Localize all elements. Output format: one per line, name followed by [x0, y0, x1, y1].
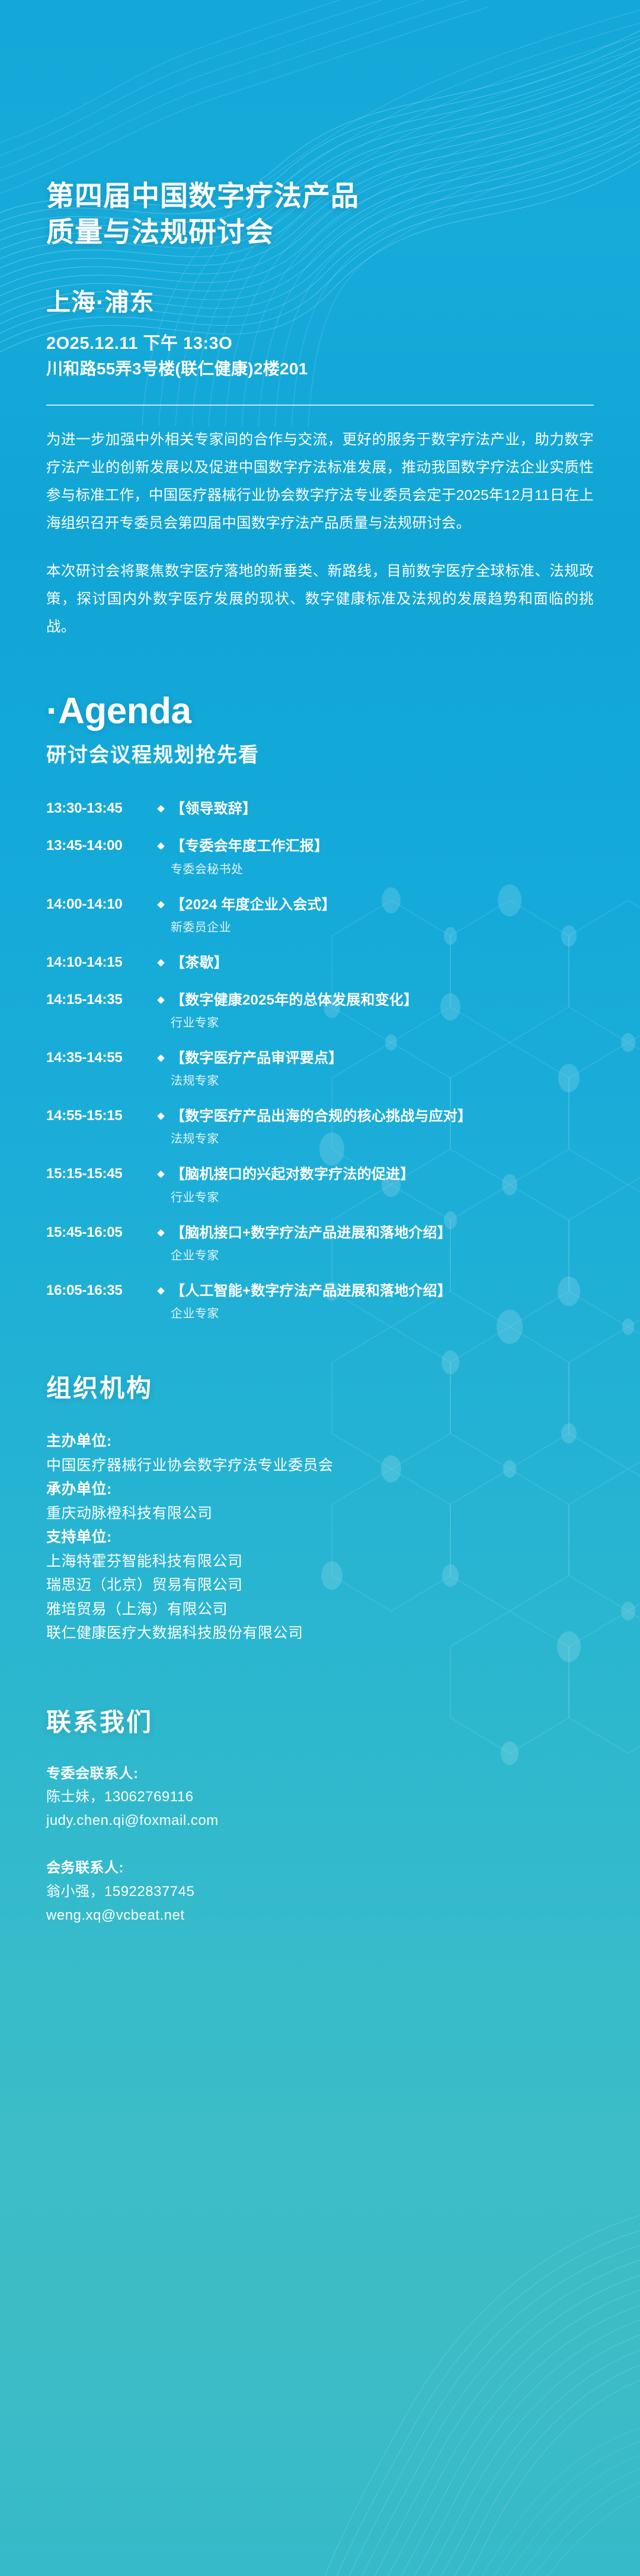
- host-value: 中国医疗器械行业协会数字疗法专业委员会: [46, 1454, 594, 1478]
- diamond-bullet-icon: [151, 1049, 171, 1061]
- agenda-item-speaker: 企业专家: [171, 1246, 594, 1263]
- contact-person-phone: 陈士妹，13062769116: [46, 1785, 594, 1809]
- agenda-item-body: 【脑机接口的兴起对数字疗法的促进】 行业专家: [171, 1165, 594, 1204]
- agenda-section: ·Agenda 研讨会议程规划抢先看 13:30-13:45 【领导致辞】 13…: [46, 692, 594, 1321]
- contact-heading: 联系我们: [46, 1702, 594, 1738]
- agenda-item-body: 【2024 年度企业入会式】 新委员企业: [171, 896, 594, 935]
- agenda-item-time: 14:15-14:35: [46, 991, 151, 1008]
- agenda-item-body: 【脑机接口+数字疗法产品进展和落地介绍】 企业专家: [171, 1224, 594, 1263]
- agenda-item-speaker: 行业专家: [171, 1013, 594, 1030]
- diamond-bullet-icon: [151, 1165, 171, 1177]
- event-venue: 川和路55弄3号楼(联仁健康)2楼201: [46, 357, 594, 382]
- support-value: 雅培贸易（上海）有限公司: [46, 1597, 594, 1622]
- page-title: 第四届中国数字疗法产品 质量与法规研讨会: [46, 178, 594, 250]
- agenda-item: 15:15-15:45 【脑机接口的兴起对数字疗法的促进】 行业专家: [46, 1165, 594, 1204]
- agenda-item-body: 【领导致辞】: [171, 800, 594, 818]
- agenda-item-body: 【茶歇】: [171, 954, 594, 972]
- agenda-item-title: 【专委会年度工作汇报】: [171, 837, 594, 855]
- agenda-item-time: 13:45-14:00: [46, 837, 151, 854]
- agenda-item-time: 13:30-13:45: [46, 800, 151, 817]
- agenda-item-title: 【茶歇】: [171, 954, 594, 972]
- contact-email[interactable]: judy.chen.qi@foxmail.com: [46, 1809, 594, 1833]
- agenda-item-title: 【2024 年度企业入会式】: [171, 896, 594, 914]
- agenda-item-title: 【数字健康2025年的总体发展和变化】: [171, 991, 594, 1009]
- conference-poster: 第四届中国数字疗法产品 质量与法规研讨会 上海·浦东 2O25.12.11 下午…: [0, 0, 640, 2576]
- organizations-heading: 组织机构: [46, 1368, 594, 1404]
- agenda-heading-en: ·Agenda: [46, 692, 594, 730]
- contact-email[interactable]: weng.xq@vcbeat.net: [46, 1904, 594, 1927]
- diamond-bullet-icon: [151, 954, 171, 965]
- diamond-bullet-icon: [151, 837, 171, 849]
- event-datetime: 2O25.12.11 下午 13:3O: [46, 331, 594, 357]
- agenda-item-time: 14:10-14:15: [46, 954, 151, 971]
- agenda-item-body: 【专委会年度工作汇报】 专委会秘书处: [171, 837, 594, 876]
- agenda-item-speaker: 企业专家: [171, 1304, 594, 1321]
- agenda-item-title: 【数字医疗产品出海的合规的核心挑战与应对】: [171, 1107, 594, 1125]
- agenda-item-title: 【人工智能+数字疗法产品进展和落地介绍】: [171, 1282, 594, 1300]
- agenda-heading-cn: 研讨会议程规划抢先看: [46, 739, 594, 768]
- agenda-item: 13:30-13:45 【领导致辞】: [46, 800, 594, 818]
- agenda-item-speaker: 新委员企业: [171, 918, 594, 935]
- agenda-item-body: 【数字医疗产品出海的合规的核心挑战与应对】 法规专家: [171, 1107, 594, 1146]
- hero-divider: [46, 405, 594, 406]
- agenda-item-speaker: 法规专家: [171, 1071, 594, 1088]
- agenda-item-body: 【数字医疗产品审评要点】 法规专家: [171, 1049, 594, 1088]
- diamond-bullet-icon: [151, 1282, 171, 1294]
- agenda-item: 14:10-14:15 【茶歇】: [46, 954, 594, 972]
- agenda-item: 16:05-16:35 【人工智能+数字疗法产品进展和落地介绍】 企业专家: [46, 1282, 594, 1321]
- agenda-item-time: 15:15-15:45: [46, 1165, 151, 1182]
- organizer-value: 重庆动脉橙科技有限公司: [46, 1502, 594, 1526]
- organizations-list: 主办单位: 中国医疗器械行业协会数字疗法专业委员会 承办单位: 重庆动脉橙科技有…: [46, 1429, 594, 1645]
- agenda-item-title: 【脑机接口的兴起对数字疗法的促进】: [171, 1165, 594, 1183]
- host-label: 主办单位:: [46, 1429, 594, 1454]
- agenda-item: 15:45-16:05 【脑机接口+数字疗法产品进展和落地介绍】 企业专家: [46, 1224, 594, 1263]
- contact-label: 专委会联系人:: [46, 1762, 594, 1786]
- agenda-item-time: 14:55-15:15: [46, 1107, 151, 1124]
- diamond-bullet-icon: [151, 1224, 171, 1236]
- support-value: 上海特霍芬智能科技有限公司: [46, 1550, 594, 1574]
- agenda-item-time: 16:05-16:35: [46, 1282, 151, 1299]
- support-label: 支持单位:: [46, 1525, 594, 1550]
- agenda-item: 13:45-14:00 【专委会年度工作汇报】 专委会秘书处: [46, 837, 594, 876]
- diamond-bullet-icon: [151, 800, 171, 811]
- agenda-item: 14:35-14:55 【数字医疗产品审评要点】 法规专家: [46, 1049, 594, 1088]
- agenda-item-title: 【脑机接口+数字疗法产品进展和落地介绍】: [171, 1224, 594, 1242]
- event-city: 上海·浦东: [46, 282, 594, 317]
- diamond-bullet-icon: [151, 1107, 171, 1119]
- agenda-item-time: 15:45-16:05: [46, 1224, 151, 1241]
- agenda-item-speaker: 法规专家: [171, 1129, 594, 1146]
- title-line-2: 质量与法规研讨会: [46, 216, 274, 248]
- organizer-label: 承办单位:: [46, 1477, 594, 1502]
- organizations-section: 组织机构 主办单位: 中国医疗器械行业协会数字疗法专业委员会 承办单位: 重庆动…: [46, 1368, 594, 1645]
- intro-paragraph-2: 本次研讨会将聚焦数字医疗落地的新垂类、新路线，目前数字医疗全球标准、法规政策，探…: [46, 557, 594, 641]
- agenda-item-body: 【数字健康2025年的总体发展和变化】 行业专家: [171, 991, 594, 1030]
- agenda-item: 14:15-14:35 【数字健康2025年的总体发展和变化】 行业专家: [46, 991, 594, 1030]
- agenda-item-title: 【领导致辞】: [171, 800, 594, 818]
- agenda-item-time: 14:00-14:10: [46, 896, 151, 913]
- contact-section: 联系我们 专委会联系人: 陈士妹，13062769116 judy.chen.q…: [46, 1702, 594, 2188]
- intro-paragraph-1: 为进一步加强中外相关专家间的合作与交流，更好的服务于数字疗法产业，助力数字疗法产…: [46, 426, 594, 537]
- agenda-item-body: 【人工智能+数字疗法产品进展和落地介绍】 企业专家: [171, 1282, 594, 1321]
- agenda-item: 14:00-14:10 【2024 年度企业入会式】 新委员企业: [46, 896, 594, 935]
- contact-block: 会务联系人: 翁小强，15922837745 weng.xq@vcbeat.ne…: [46, 1856, 594, 1927]
- intro-section: 为进一步加强中外相关专家间的合作与交流，更好的服务于数字疗法产业，助力数字疗法产…: [46, 426, 594, 641]
- agenda-list: 13:30-13:45 【领导致辞】 13:45-14:00 【专委会年度工作汇…: [46, 800, 594, 1321]
- diamond-bullet-icon: [151, 896, 171, 907]
- contact-label: 会务联系人:: [46, 1856, 594, 1880]
- contact-block: 专委会联系人: 陈士妹，13062769116 judy.chen.qi@fox…: [46, 1762, 594, 1833]
- contact-person-phone: 翁小强，15922837745: [46, 1880, 594, 1904]
- agenda-item-speaker: 行业专家: [171, 1188, 594, 1205]
- agenda-item-title: 【数字医疗产品审评要点】: [171, 1049, 594, 1067]
- agenda-item-speaker: 专委会秘书处: [171, 859, 594, 877]
- hero-section: 第四届中国数字疗法产品 质量与法规研讨会 上海·浦东 2O25.12.11 下午…: [46, 0, 594, 382]
- poster-content: 第四届中国数字疗法产品 质量与法规研讨会 上海·浦东 2O25.12.11 下午…: [0, 0, 640, 2187]
- agenda-item-time: 14:35-14:55: [46, 1049, 151, 1066]
- support-value: 瑞思迈（北京）贸易有限公司: [46, 1573, 594, 1597]
- title-line-1: 第四届中国数字疗法产品: [46, 180, 359, 211]
- support-value: 联仁健康医疗大数据科技股份有限公司: [46, 1621, 594, 1645]
- diamond-bullet-icon: [151, 991, 171, 1003]
- agenda-item: 14:55-15:15 【数字医疗产品出海的合规的核心挑战与应对】 法规专家: [46, 1107, 594, 1146]
